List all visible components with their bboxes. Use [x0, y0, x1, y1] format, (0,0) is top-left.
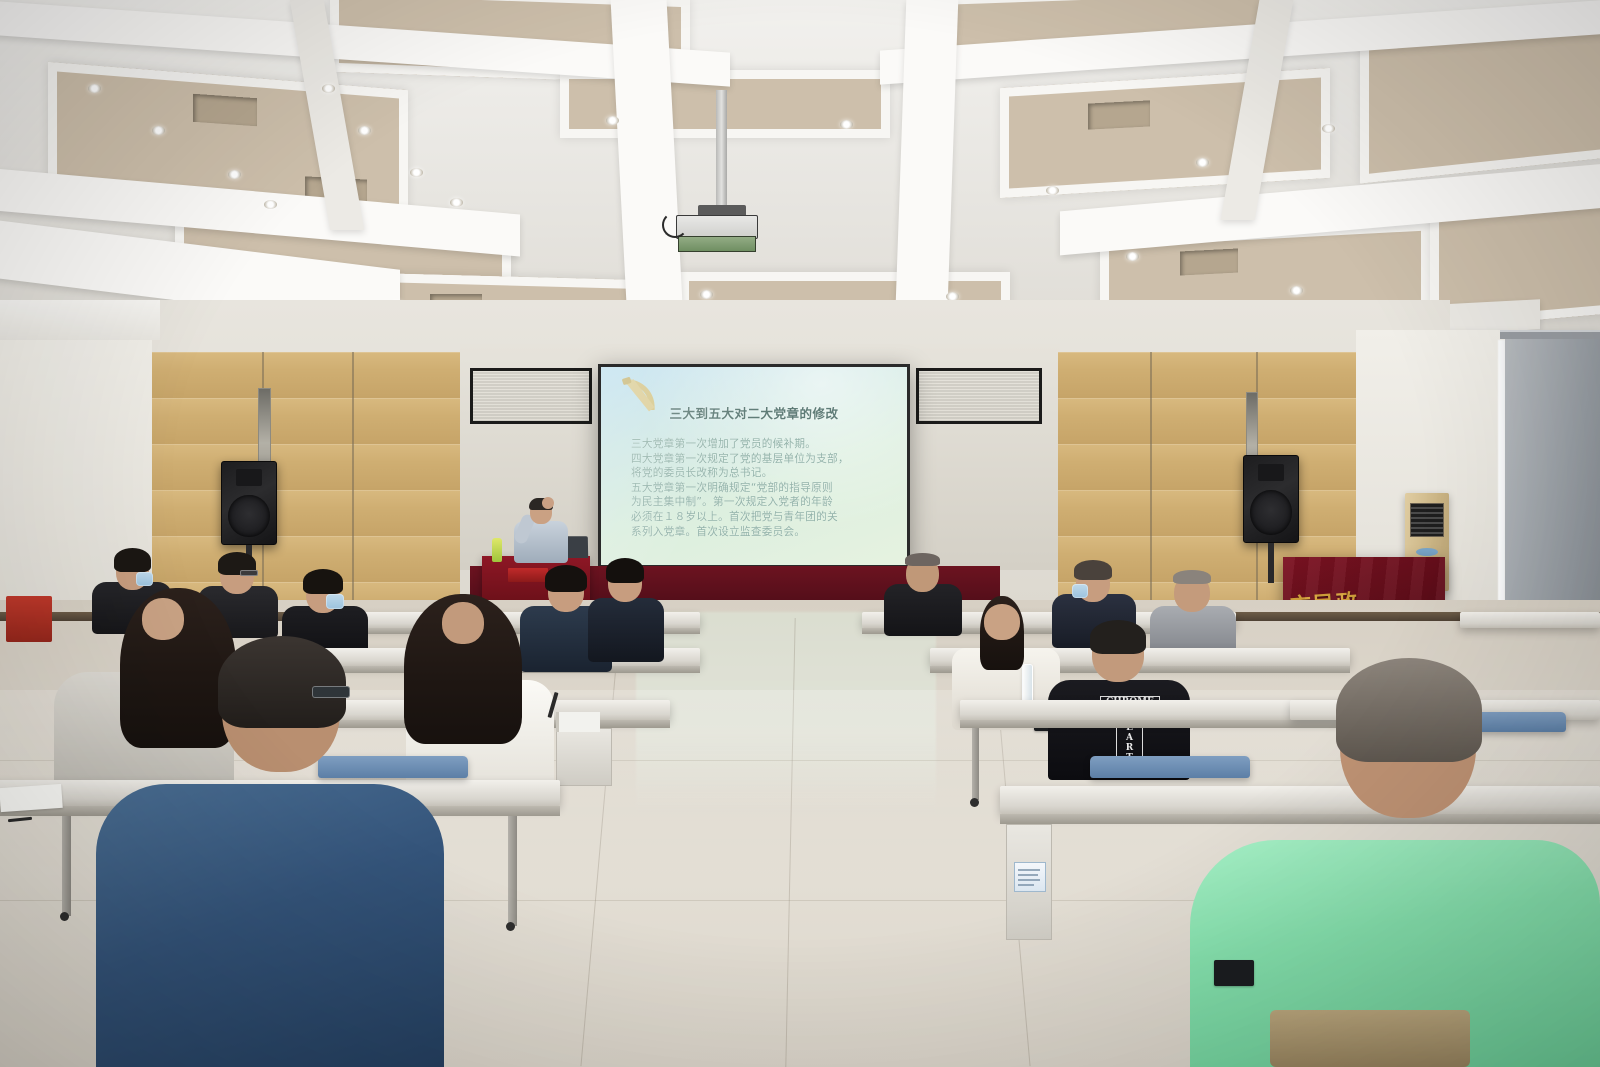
- slide-body-line: 四大党章第一次规定了党的基层单位为支部，: [631, 452, 891, 467]
- ceiling-downlight: [606, 116, 619, 125]
- label-line: [1018, 874, 1038, 876]
- hair: [1173, 570, 1211, 584]
- slide-body-line: 三大党章第一次增加了党员的候补期。: [631, 437, 891, 452]
- hair: [218, 636, 346, 728]
- ceiling-coffer: [1000, 68, 1330, 198]
- slide-body-line: 系列入党章。首次设立监查委员会。: [631, 525, 891, 540]
- presenter-at-podium: [512, 500, 570, 562]
- blind-headrail: [1500, 330, 1600, 339]
- eyeglasses: [312, 686, 350, 698]
- speaker-tweeter: [1258, 464, 1284, 481]
- slide-body-line: 为民主集中制”。第一次规定入党者的年龄: [631, 495, 891, 510]
- screen-reflection-on-floor: [636, 612, 936, 812]
- desk-modesty-panel: [556, 728, 612, 786]
- projector-lens: [678, 236, 756, 252]
- red-storage-box: [6, 596, 52, 642]
- audience-person-midrow-dark-2: [588, 556, 664, 660]
- smartphone-in-hand: [1214, 960, 1254, 986]
- face-mask: [1072, 584, 1088, 598]
- acoustic-panel-left: [470, 368, 592, 424]
- hair: [905, 553, 940, 566]
- torso: [96, 784, 444, 1067]
- ceiling-downlight: [1126, 252, 1139, 261]
- ceiling-downlight: [840, 120, 853, 129]
- shirt-letter: A: [1116, 734, 1143, 743]
- slide-surface: 三大到五大对二大党章的修改 三大党章第一次增加了党员的候补期。 四大党章第一次规…: [601, 367, 907, 565]
- ceiling-downlight: [1046, 186, 1059, 195]
- hair: [303, 569, 343, 594]
- audience-person-mint-polo: [1190, 668, 1600, 1067]
- pa-speaker-right: [1243, 455, 1299, 543]
- ceiling-air-vent: [1088, 100, 1150, 129]
- desk-caster: [506, 922, 515, 931]
- ceiling-downlight: [1290, 286, 1303, 295]
- water-bottle-desk: [1022, 664, 1033, 704]
- desk-leg: [62, 816, 71, 916]
- audience-person-bald-front-right: [884, 548, 962, 632]
- ceiling-downlight: [322, 84, 335, 93]
- face-mask: [326, 594, 344, 609]
- head: [984, 604, 1020, 640]
- ceiling-downlight: [1196, 158, 1209, 167]
- slide-body-line: 将党的委员长改称为总书记。: [631, 466, 891, 481]
- ceiling-air-vent: [193, 94, 257, 126]
- desk-label-card: [1014, 862, 1046, 892]
- slide-body-line: 必须在１８岁以上。首次把党与青年团的关: [631, 510, 891, 525]
- hair: [1336, 658, 1482, 762]
- speaker-woofer: [1250, 490, 1291, 535]
- presenter-hand: [542, 497, 554, 509]
- projector-mount-pole: [716, 90, 727, 212]
- speaker-woofer: [228, 495, 269, 538]
- slide-body-line: 五大党章第一次明确规定“党部的指导原则: [631, 481, 891, 496]
- speaker-stand-right: [1268, 543, 1274, 583]
- audience-person-chrome-hearts: CHROME H E A R T S: [1048, 618, 1190, 778]
- label-line: [1018, 879, 1040, 881]
- ceiling-downlight: [1322, 124, 1335, 133]
- window-roller-blind[interactable]: [1505, 334, 1600, 626]
- slide-body: 三大党章第一次增加了党员的候补期。 四大党章第一次规定了党的基层单位为支部， 将…: [631, 437, 891, 539]
- desk-caster: [60, 912, 69, 921]
- ceiling-air-vent: [1180, 248, 1238, 275]
- ceiling-downlight: [152, 126, 165, 135]
- ceiling-downlight: [450, 198, 463, 207]
- left-wall-upper: [0, 300, 160, 340]
- slide-title: 三大到五大对二大党章的修改: [601, 403, 907, 422]
- shirt-letter: R: [1116, 744, 1143, 753]
- torso: [588, 598, 664, 662]
- ceiling-downlight: [358, 126, 371, 135]
- ac-badge: [1416, 548, 1438, 556]
- face-mask: [136, 572, 153, 586]
- ceiling-downlight: [88, 84, 101, 93]
- pa-speaker-left: [221, 461, 277, 545]
- hair: [606, 558, 644, 583]
- ac-vent-grill: [1410, 503, 1444, 537]
- hair: [1090, 620, 1146, 654]
- desk-leg: [972, 728, 979, 800]
- ceiling-downlight: [410, 168, 423, 177]
- hair: [114, 548, 151, 572]
- label-line: [1018, 869, 1040, 871]
- ceiling-downlight: [700, 290, 713, 299]
- projector-cable: [662, 212, 688, 238]
- water-bottle-podium: [492, 538, 502, 562]
- desk-leg: [508, 816, 517, 926]
- paper-on-desk: [0, 784, 63, 812]
- hair: [1074, 560, 1112, 580]
- ceiling-downlight: [228, 170, 241, 179]
- chair-seat-foreground: [1270, 1010, 1470, 1067]
- acoustic-panel-right: [916, 368, 1042, 424]
- notebook-on-desk: [556, 712, 600, 732]
- desk-row-5-right: [1460, 612, 1600, 628]
- ceiling-downlight: [264, 200, 277, 209]
- classroom-photo-scene: 三大到五大对二大党章的修改 三大党章第一次增加了党员的候补期。 四大党章第一次规…: [0, 0, 1600, 1067]
- label-line: [1018, 884, 1034, 886]
- audience-person-navy-jacket: [96, 644, 444, 1067]
- head: [442, 602, 484, 644]
- speaker-tweeter: [236, 469, 262, 485]
- projection-screen: 三大到五大对二大党章的修改 三大党章第一次增加了党员的候补期。 四大党章第一次规…: [598, 364, 910, 568]
- window-light-leak: [1498, 340, 1505, 626]
- desk-caster: [970, 798, 979, 807]
- head: [142, 598, 184, 640]
- eyeglasses: [240, 570, 258, 576]
